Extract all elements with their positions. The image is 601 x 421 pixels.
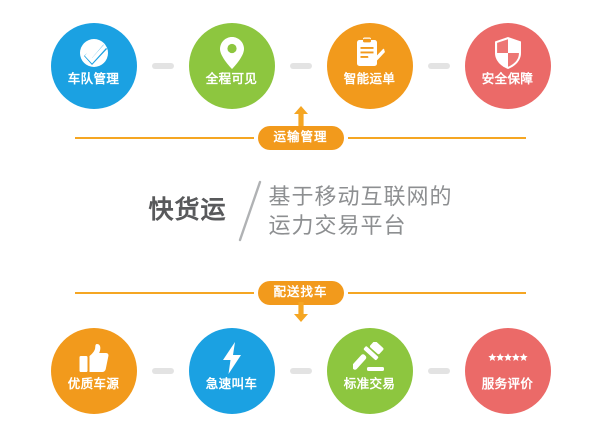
bottom-capability-row: 优质车源 急速叫车 标准交易 [0,323,601,419]
gavel-icon [350,341,390,375]
brand-description: 基于移动互联网的 运力交易平台 [269,182,453,241]
infographic-canvas: 车队管理 全程可见 [0,0,601,421]
connector-dash [428,368,450,374]
node-standard-transaction[interactable]: 标准交易 [327,328,413,414]
node-quality-vehicle-source[interactable]: 优质车源 [51,328,137,414]
connector-dash [428,63,450,69]
connector-dash [152,63,174,69]
node-label: 车队管理 [68,73,120,86]
node-smart-waybill[interactable]: 智能运单 [327,23,413,109]
node-service-rating[interactable]: 服务评价 [465,328,551,414]
check-circle-icon [74,36,114,70]
node-full-visibility[interactable]: 全程可见 [189,23,275,109]
band-rule-left [75,137,254,139]
brand-block: 快货运 基于移动互联网的 运力交易平台 [0,176,601,246]
node-label: 安全保障 [482,73,534,86]
node-label: 服务评价 [482,378,534,391]
band-rule-left [75,292,254,294]
lightning-bolt-icon [212,341,252,375]
node-label: 智能运单 [344,73,396,86]
node-label: 全程可见 [206,73,258,86]
band-rule-right [348,292,527,294]
shield-icon [488,36,528,70]
brand-name: 快货运 [148,198,226,225]
connector-dash [152,368,174,374]
clipboard-check-icon [350,36,390,70]
top-capability-row: 车队管理 全程可见 [0,18,601,114]
node-fleet-management[interactable]: 车队管理 [51,23,137,109]
node-label: 标准交易 [344,378,396,391]
map-pin-icon [212,36,252,70]
connector-dash [290,368,312,374]
node-rapid-call-vehicle[interactable]: 急速叫车 [189,328,275,414]
connector-dash [290,63,312,69]
brand-desc-line-2: 运力交易平台 [269,211,453,240]
thumbs-up-icon [74,341,114,375]
slash-icon [233,180,267,242]
five-stars-icon [488,341,528,375]
arrow-up-icon [291,106,311,126]
band-pill-label[interactable]: 运输管理 [258,126,344,150]
brand-desc-line-1: 基于移动互联网的 [269,182,453,211]
node-label: 优质车源 [68,378,120,391]
node-label: 急速叫车 [206,378,258,391]
arrow-down-icon [291,302,311,322]
band-rule-right [348,137,527,139]
node-security-guarantee[interactable]: 安全保障 [465,23,551,109]
band-transport-management: 运输管理 [75,125,526,151]
